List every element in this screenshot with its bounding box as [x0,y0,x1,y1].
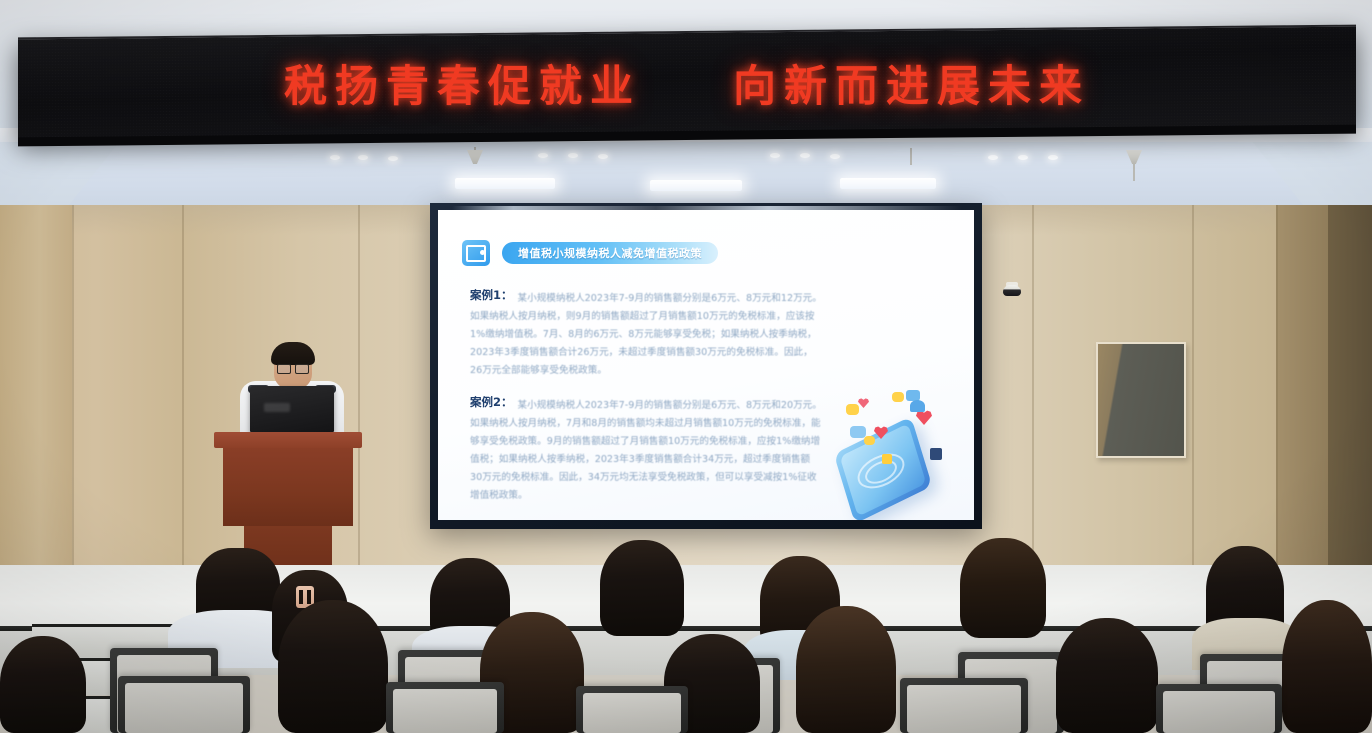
audience-member [278,600,388,733]
hair [960,538,1046,638]
chair-mesh-back [583,693,681,733]
chat-bubble-icon [846,404,859,415]
card-icon-inner [466,245,486,262]
lectern-top [214,432,362,448]
recessed-downlight [330,155,340,160]
audience-member [1206,546,1284,642]
slide-header: 增值税小规模纳税人减免增值税政策 [462,240,718,266]
heart-icon [858,398,869,408]
recessed-downlight [538,153,548,158]
slide-body: 案例1： 某小规模纳税人2023年7-9月的销售额分别是6万元、8万元和12万元… [470,288,822,520]
recessed-downlight [358,155,368,160]
panel-light [455,178,555,189]
cursor-icon [930,448,942,460]
audience-member [0,636,86,733]
recessed-downlight [598,154,608,159]
conference-chair[interactable] [118,676,250,733]
laptop-computer [250,386,334,432]
laptop-logo [264,403,290,412]
conference-hall-scene: 税扬青春促就业 向新而进展未来 增值税小规模纳税人减免增值税政策 [0,0,1372,733]
chat-bubble-icon [864,436,875,445]
glasses-lens [295,364,309,374]
case-block: 案例1： 某小规模纳税人2023年7-9月的销售额分别是6万元、8万元和12万元… [470,288,822,378]
wall-panel-seam [1192,205,1194,605]
glasses-lens [277,364,291,374]
wall-niche [1096,342,1186,458]
wifi-icon [910,400,925,412]
projection-screen-frame: 增值税小规模纳税人减免增值税政策 案例1： 某小规模纳税人2023年7-9月的销… [430,203,982,529]
led-banner-right-text: 向新而进展未来 [733,52,1090,114]
hair [0,636,86,733]
audience-member [960,538,1046,638]
security-camera-icon [1003,282,1021,297]
slide-title: 增值税小规模纳税人减免增值税政策 [518,245,702,261]
hair [600,540,684,636]
conference-chair[interactable] [900,678,1028,733]
panel-light [840,178,936,189]
presenter-hair [271,342,315,365]
audience-member [1282,600,1372,733]
recessed-downlight [388,156,398,161]
panel-light [650,180,742,191]
star-icon [882,454,892,464]
lectern-face [223,448,353,526]
hair [1282,600,1372,733]
recessed-downlight [830,154,840,159]
led-banner: 税扬青春促就业 向新而进展未来 [18,25,1356,139]
smartphone-social-icons-illustration [818,382,968,512]
chair-mesh-back [1163,691,1275,733]
audience-member [600,540,684,636]
slide-title-pill: 增值税小规模纳税人减免增值税政策 [502,242,718,264]
case-label: 案例1： [470,288,513,303]
camera-dome [1003,285,1021,296]
pendant-stem [910,148,912,165]
wall-panel-seam [1276,205,1278,605]
recessed-downlight [988,155,998,160]
conference-chair[interactable] [1156,684,1282,733]
glasses-icon [277,364,309,372]
hair [796,606,896,733]
chat-bubble-icon [892,392,904,402]
led-banner-left-text: 税扬青春促就业 [284,52,641,114]
case-text: 某小规模纳税人2023年7-9月的销售额分别是6万元、8万元和12万元。如果纳税… [470,293,822,376]
chair-mesh-back [393,689,497,733]
recessed-downlight [800,153,810,158]
document-icon [850,426,866,438]
presentation-slide: 增值税小规模纳税人减免增值税政策 案例1： 某小规模纳税人2023年7-9月的销… [438,210,974,520]
chair-mesh-back [125,683,243,733]
conference-chair[interactable] [386,682,504,733]
recessed-downlight [770,153,780,158]
recessed-downlight [568,153,578,158]
presentation-card-icon [462,240,490,266]
audience-member [796,606,896,733]
case-label: 案例2： [470,395,513,410]
case-block: 案例2： 某小规模纳税人2023年7-9月的销售额分别是6万元、8万元和20万元… [470,395,822,503]
audience-member [196,548,280,634]
hair [1056,618,1158,733]
recessed-downlight [1048,155,1058,160]
wall-panel-seam [182,205,184,625]
pendant-stem [1133,164,1135,181]
conference-chair[interactable] [576,686,688,733]
audience-member [1056,618,1158,733]
heart-icon [916,410,932,425]
recessed-downlight [1018,155,1028,160]
chair-mesh-back [907,685,1021,733]
wall-panel-seam [72,205,74,625]
hair [278,600,388,733]
case-text: 某小规模纳税人2023年7-9月的销售额分别是6万元、8万元和20万元。如果纳税… [470,400,822,501]
